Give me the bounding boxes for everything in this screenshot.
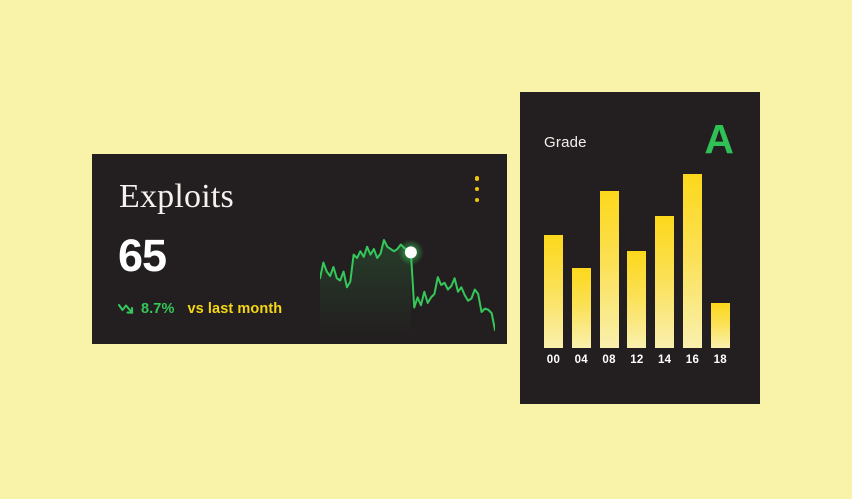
bar [544, 235, 563, 348]
menu-dot [475, 187, 480, 192]
sparkline-chart[interactable] [320, 234, 495, 334]
metric-card: Exploits 65 8.7% vs last month [92, 154, 507, 344]
axis-tick-label: 08 [600, 354, 619, 366]
axis-tick-label: 14 [655, 354, 674, 366]
menu-dot [475, 198, 480, 203]
bar-chart-x-axis: 00040812141618 [544, 354, 738, 372]
menu-dot [475, 176, 480, 181]
axis-tick-label: 16 [683, 354, 702, 366]
screen-canvas: Exploits 65 8.7% vs last month [0, 0, 852, 499]
bar [600, 191, 619, 348]
axis-tick-label: 12 [627, 354, 646, 366]
axis-tick-label: 04 [572, 354, 591, 366]
sparkline-svg [320, 234, 495, 334]
bar [572, 268, 591, 348]
bar [683, 174, 702, 348]
bar-chart [544, 174, 738, 348]
trend-percent: 8.7% [141, 301, 174, 317]
bar [627, 251, 646, 348]
bar [655, 216, 674, 348]
sparkline-marker[interactable] [405, 246, 417, 258]
metric-value: 65 [118, 232, 166, 280]
axis-tick-label: 00 [544, 354, 563, 366]
page-title: Exploits [119, 177, 234, 217]
trend-down-arrow-icon [118, 301, 136, 317]
more-vertical-icon[interactable] [469, 174, 485, 204]
grade-value: A [704, 118, 734, 160]
axis-tick-label: 18 [711, 354, 730, 366]
grade-card: Grade A 00040812141618 [520, 92, 760, 404]
bar [711, 303, 730, 348]
trend-comparison-label: vs last month [187, 301, 282, 317]
grade-label: Grade [544, 134, 587, 151]
trend-indicator: 8.7% vs last month [118, 299, 282, 319]
